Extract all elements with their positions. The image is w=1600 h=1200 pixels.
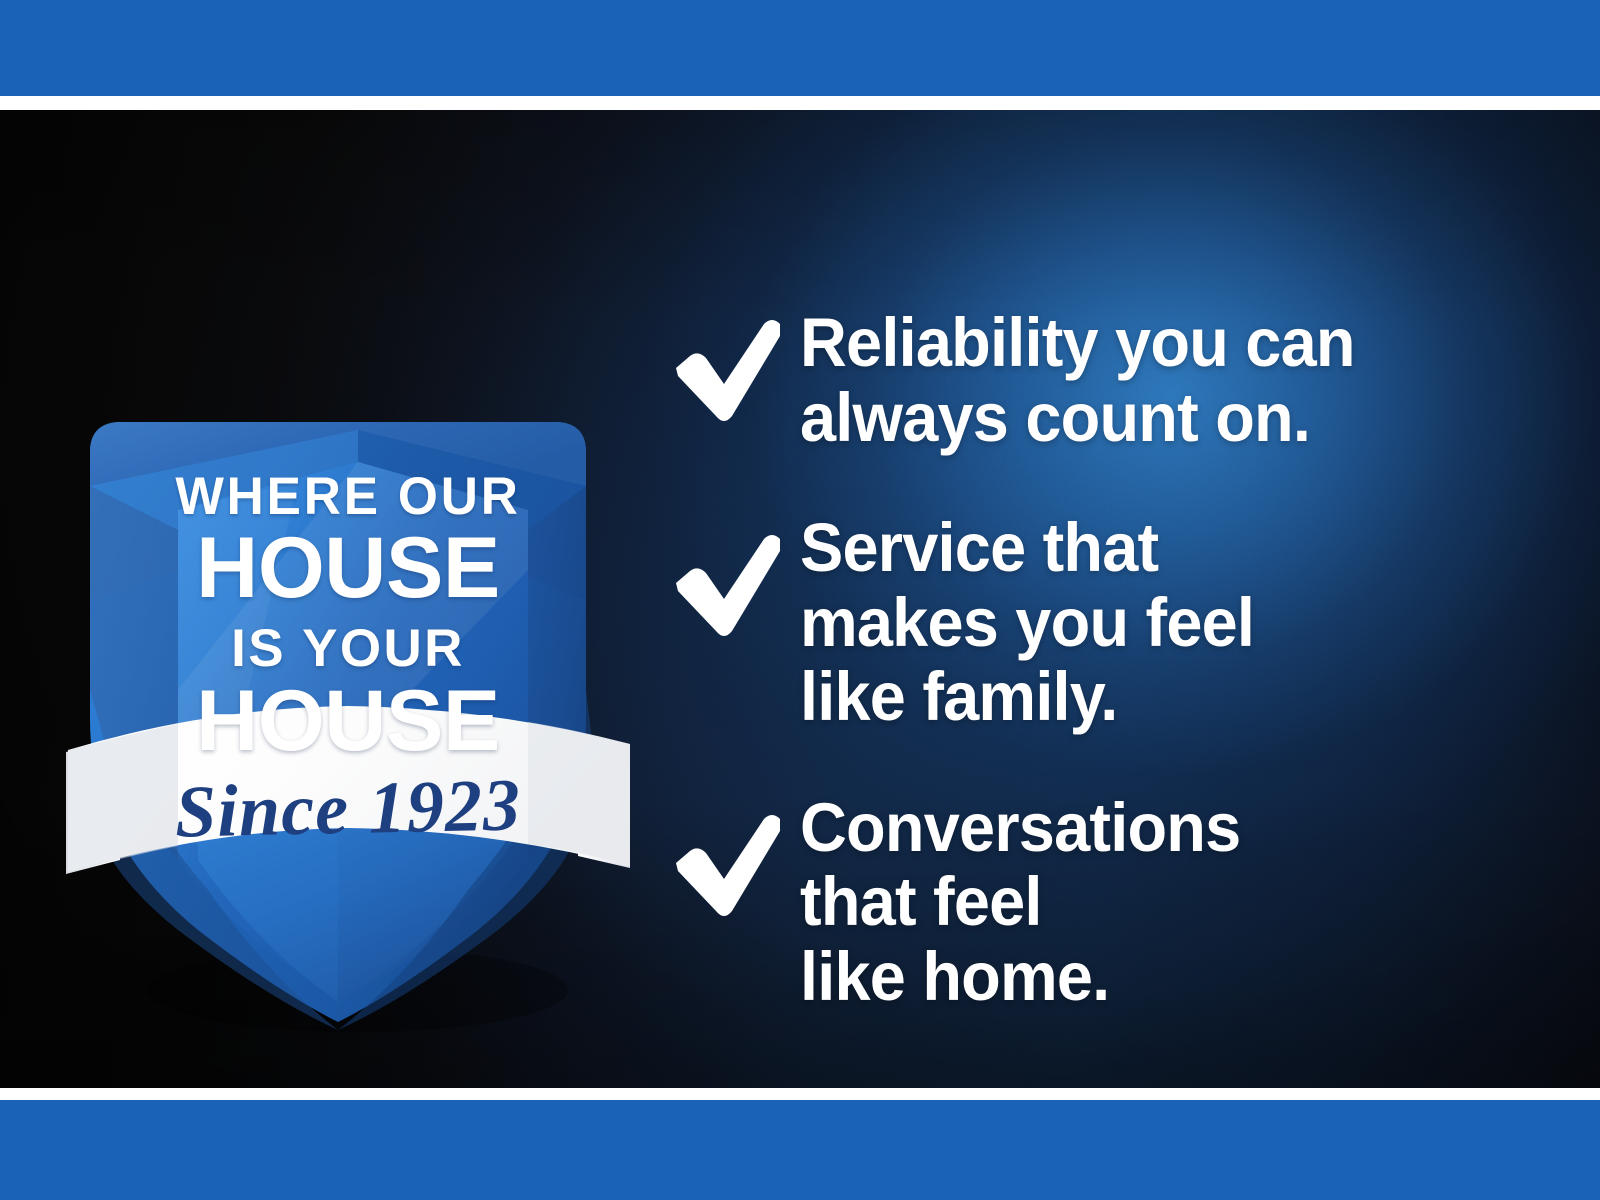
benefit-item-service: Service that makes you feel like family. xyxy=(668,511,1548,735)
bottom-brand-bar xyxy=(0,1100,1600,1200)
benefit-text-service: Service that makes you feel like family. xyxy=(800,511,1503,735)
benefit-item-conversations: Conversations that feel like home. xyxy=(668,791,1548,1015)
top-brand-bar xyxy=(0,0,1600,96)
checkmark-icon xyxy=(668,306,800,426)
since-year-banner-text: Since 1923 xyxy=(57,766,638,852)
benefit-line: Service that xyxy=(800,511,1503,586)
promo-graphic: WHERE OUR HOUSE IS YOUR HOUSE Since 1923… xyxy=(0,0,1600,1200)
benefit-line: like home. xyxy=(800,940,1503,1015)
benefits-list: Reliability you can always count on. Ser… xyxy=(668,306,1548,1014)
benefit-line: Reliability you can xyxy=(800,306,1503,381)
checkmark-icon xyxy=(668,511,800,641)
benefit-text-reliability: Reliability you can always count on. xyxy=(800,306,1503,455)
checkmark-icon xyxy=(668,791,800,921)
benefit-item-reliability: Reliability you can always count on. xyxy=(668,306,1548,455)
benefit-line: Conversations xyxy=(800,791,1503,866)
benefit-text-conversations: Conversations that feel like home. xyxy=(800,791,1503,1015)
house-shield-badge: WHERE OUR HOUSE IS YOUR HOUSE Since 1923 xyxy=(58,390,638,1050)
benefit-line: that feel xyxy=(800,865,1503,940)
shield-graphic xyxy=(58,390,638,1050)
benefit-line: like family. xyxy=(800,660,1503,735)
benefit-line: always count on. xyxy=(800,381,1503,456)
benefit-line: makes you feel xyxy=(800,586,1503,661)
main-panel: WHERE OUR HOUSE IS YOUR HOUSE Since 1923… xyxy=(0,110,1600,1088)
